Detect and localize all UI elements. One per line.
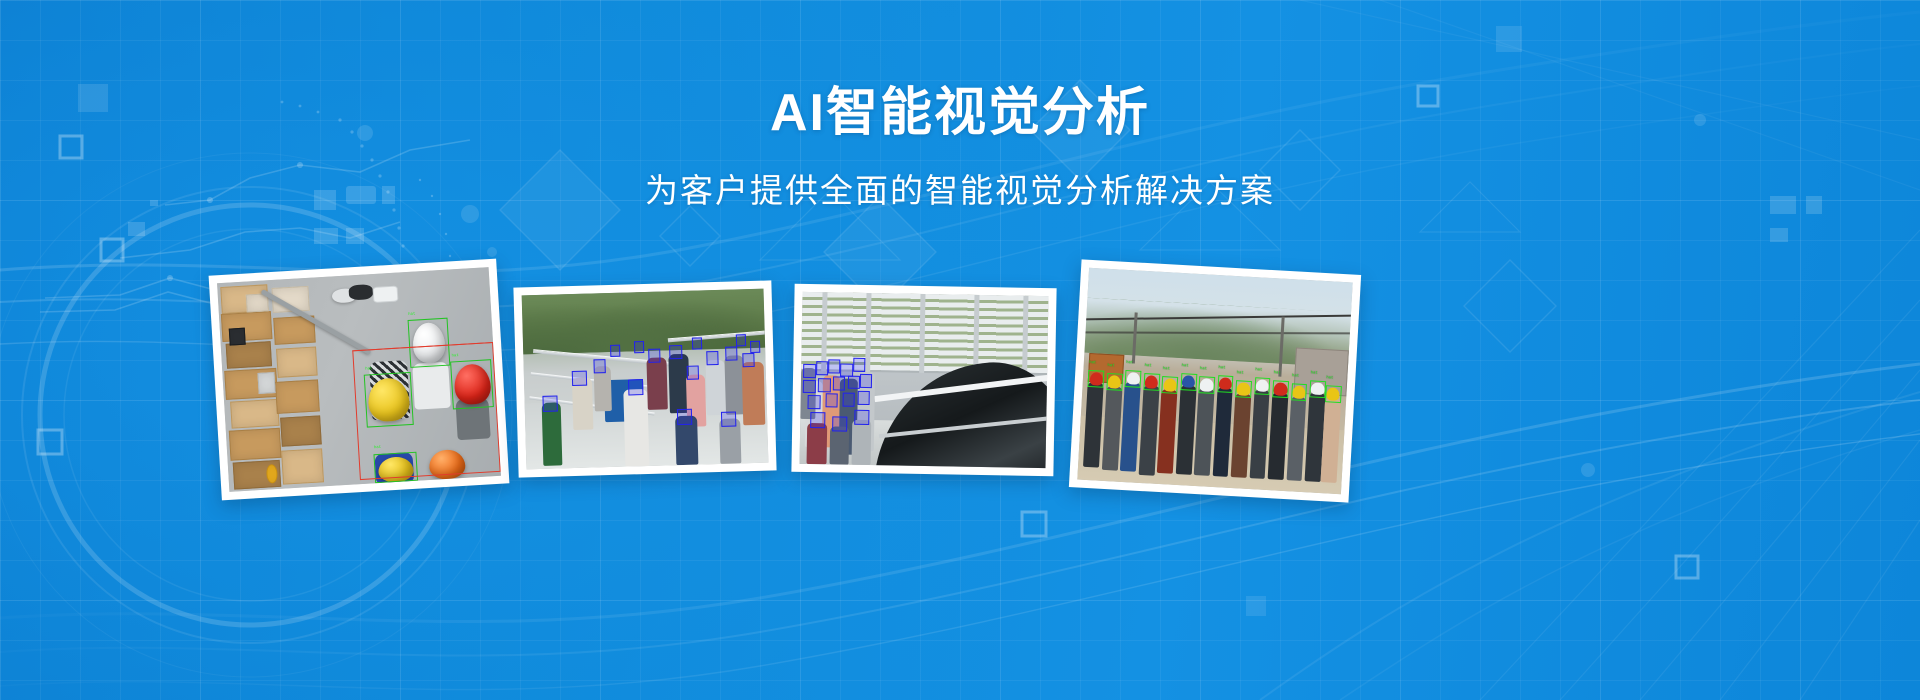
detection-label-hat: hat <box>1255 368 1262 373</box>
crowd-person <box>741 362 765 425</box>
detection-box-face[interactable] <box>860 374 873 388</box>
power-wire-lower <box>1080 331 1352 334</box>
detection-box-face[interactable] <box>750 341 760 353</box>
detection-label-hat: hat <box>1107 364 1114 369</box>
detection-box-face[interactable] <box>808 395 821 409</box>
gallery-photo-3[interactable] <box>791 284 1056 477</box>
detection-box-face[interactable] <box>610 345 620 357</box>
detection-box-face[interactable] <box>648 349 660 363</box>
detection-box-helmet[interactable] <box>1272 380 1289 398</box>
detection-box-helmet[interactable] <box>1198 376 1215 394</box>
gallery-photo-1[interactable]: hat hat hat hat <box>209 259 510 501</box>
detection-box-face[interactable] <box>842 392 855 406</box>
detection-box-face[interactable] <box>669 345 681 359</box>
detection-box-helmet[interactable] <box>1217 375 1234 393</box>
detection-box-face[interactable] <box>736 334 746 346</box>
detection-box-helmet[interactable] <box>1254 377 1271 395</box>
detection-label-hat: hat <box>1126 361 1133 366</box>
scene-outdoor-helmet-recognition: hat hat hat hat hat hat hat hat <box>1077 268 1352 494</box>
page-title: AI智能视觉分析 <box>0 82 1920 144</box>
detection-box-helmet[interactable] <box>1088 370 1105 388</box>
detection-label-hat: hat <box>1089 361 1096 366</box>
detection-box-face[interactable] <box>572 370 587 386</box>
gallery-photo-2[interactable] <box>513 280 776 477</box>
detection-box-face[interactable] <box>810 412 825 428</box>
detection-box-face[interactable] <box>594 359 606 373</box>
detection-label-hat: hat <box>1218 366 1225 371</box>
crowd-person <box>829 427 849 465</box>
detection-box-face[interactable] <box>828 359 841 373</box>
detection-box-face[interactable] <box>628 379 643 395</box>
detection-box-face[interactable] <box>833 377 846 391</box>
detection-box-face[interactable] <box>803 364 816 378</box>
crowd-person <box>624 389 650 466</box>
detection-label-hat: hat <box>1326 377 1333 382</box>
detection-box-helmet[interactable] <box>1106 373 1123 391</box>
detection-box-face[interactable] <box>854 410 869 426</box>
detection-label-helmet-white: hat <box>408 312 415 317</box>
page-subtitle: 为客户提供全面的智能视觉分析解决方案 <box>0 170 1920 213</box>
detection-label-hat: hat <box>1163 367 1170 372</box>
crowd-person <box>851 420 871 465</box>
detection-label-hat: hat <box>1200 367 1207 372</box>
detection-box-face[interactable] <box>725 347 737 361</box>
crowd-person <box>647 358 668 411</box>
detection-label-hat: hat <box>1273 372 1280 377</box>
detection-box-helmet[interactable] <box>1325 385 1342 403</box>
detection-box-face[interactable] <box>706 351 718 365</box>
scene-footbridge-face-detection <box>522 289 769 470</box>
detection-box-face[interactable] <box>857 391 870 405</box>
detection-box-face[interactable] <box>832 416 847 432</box>
detection-box-face[interactable] <box>816 361 829 375</box>
scene-warehouse-helmet-detection: hat hat hat hat <box>217 267 501 492</box>
detection-box-helmet[interactable] <box>1161 376 1178 394</box>
detection-box-helmet[interactable] <box>1235 380 1252 398</box>
detection-box-face[interactable] <box>634 341 644 353</box>
detection-box-helmet[interactable] <box>1291 383 1308 401</box>
detection-box-face[interactable] <box>853 358 866 372</box>
ai-detection-photo-strip: hat hat hat hat <box>0 262 1920 512</box>
scene-station-platform-face-detection <box>800 292 1049 468</box>
train-body <box>865 357 1049 469</box>
detection-box-face[interactable] <box>721 411 736 427</box>
white-tray <box>373 285 398 303</box>
detection-box-face[interactable] <box>825 394 838 408</box>
detection-label-hat: hat <box>1144 364 1151 369</box>
detection-box-face[interactable] <box>818 378 831 392</box>
detection-box-face[interactable] <box>543 395 558 411</box>
gallery-photo-4[interactable]: hat hat hat hat hat hat hat hat <box>1069 259 1361 502</box>
detection-box-helmet[interactable] <box>1143 373 1160 391</box>
region-of-interest-box[interactable] <box>352 342 501 480</box>
banner-text-block: AI智能视觉分析 为客户提供全面的智能视觉分析解决方案 <box>0 82 1920 213</box>
detection-label-hat: hat <box>1310 371 1317 376</box>
detection-label-hat: hat <box>1181 364 1188 369</box>
crowd-person <box>542 402 563 465</box>
detection-box-face[interactable] <box>677 409 692 425</box>
detection-box-helmet[interactable] <box>1125 370 1142 388</box>
detection-box-face[interactable] <box>848 375 861 389</box>
detection-box-helmet[interactable] <box>1180 373 1197 391</box>
detection-box-face[interactable] <box>692 337 702 349</box>
detection-label-hat: hat <box>1292 375 1299 380</box>
crowd-person <box>705 359 726 415</box>
detection-box-helmet[interactable] <box>1309 380 1326 398</box>
ai-vision-banner: AI智能视觉分析 为客户提供全面的智能视觉分析解决方案 <box>0 0 1920 700</box>
detection-box-face[interactable] <box>742 353 754 367</box>
detection-box-face[interactable] <box>803 380 816 394</box>
detection-label-hat: hat <box>1236 372 1243 377</box>
crowd-person <box>807 423 827 465</box>
detection-box-face[interactable] <box>687 365 699 379</box>
